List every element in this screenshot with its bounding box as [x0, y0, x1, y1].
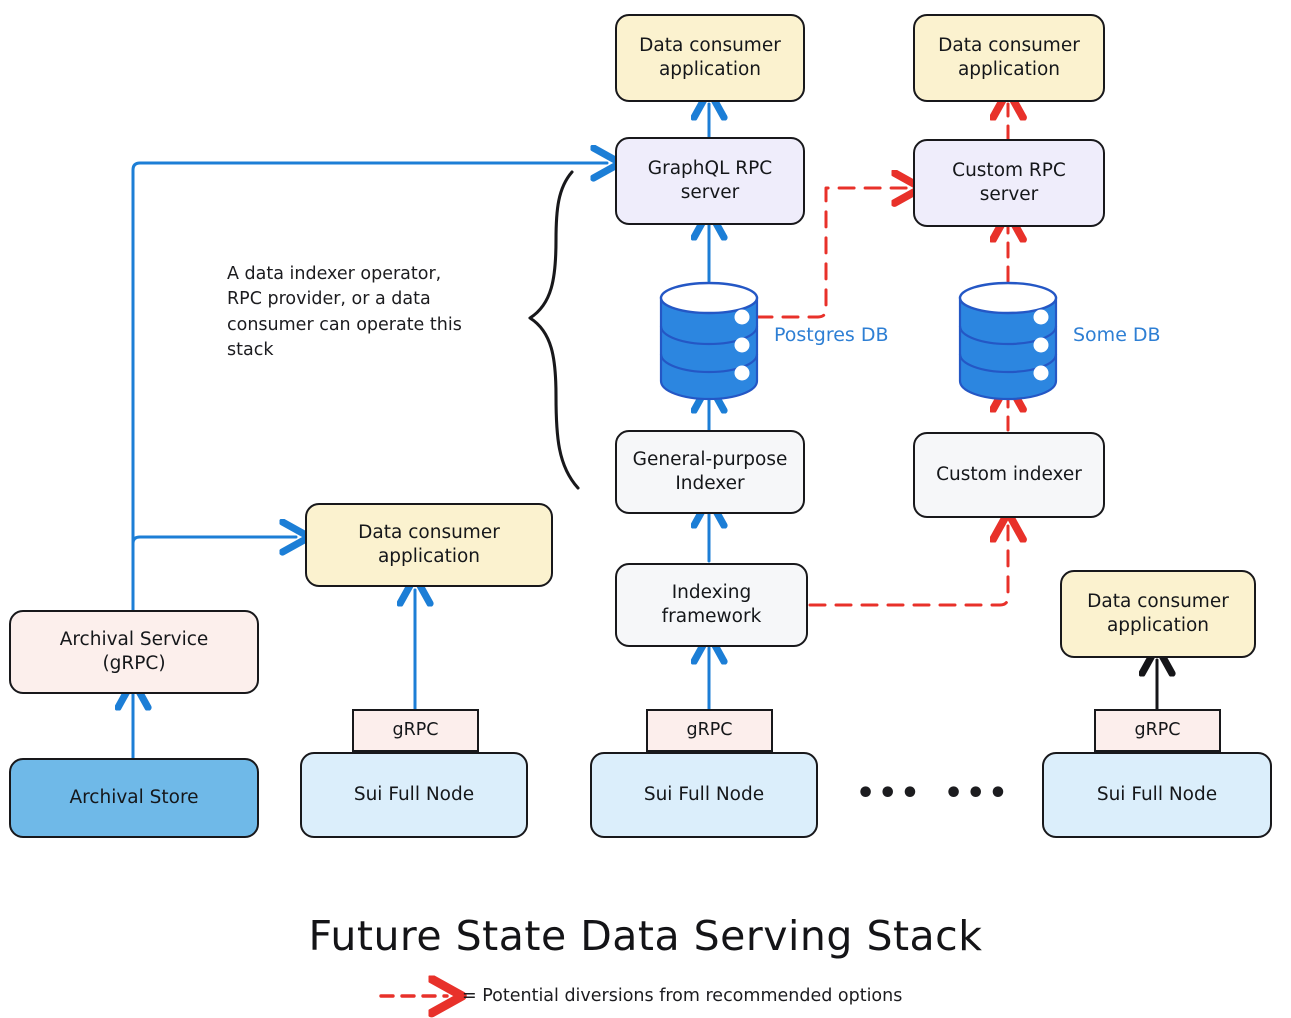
node-data-consumer-custom[interactable]: Data consumer application: [913, 14, 1105, 102]
node-archival-store[interactable]: Archival Store: [9, 758, 259, 838]
stack-annotation-text: A data indexer operator, RPC provider, o…: [227, 262, 527, 364]
diagram-canvas: Data consumer application Data consumer …: [0, 0, 1291, 1018]
ellipsis-right: •••: [944, 779, 1011, 809]
arrow-archivalservice-to-consumer: [133, 537, 296, 616]
node-data-consumer-fullnode[interactable]: Data consumer application: [1060, 570, 1256, 658]
node-sui-full-node-left[interactable]: Sui Full Node: [300, 752, 528, 838]
node-data-consumer-graphql[interactable]: Data consumer application: [615, 14, 805, 102]
arrow-framework-to-customindexer: [810, 526, 1008, 605]
node-grpc-mid[interactable]: gRPC: [646, 709, 773, 752]
node-custom-rpc-server[interactable]: Custom RPC server: [913, 139, 1105, 227]
node-graphql-rpc-server[interactable]: GraphQL RPC server: [615, 137, 805, 225]
postgres-db-label: Postgres DB: [774, 324, 889, 346]
curly-brace-icon: [530, 172, 578, 488]
node-grpc-right[interactable]: gRPC: [1094, 709, 1221, 752]
some-db-label: Some DB: [1073, 324, 1161, 346]
legend-label: = Potential diversions from recommended …: [462, 986, 902, 1006]
some-db-icon: [960, 283, 1056, 399]
node-grpc-left[interactable]: gRPC: [352, 709, 479, 752]
node-general-purpose-indexer[interactable]: General-purpose Indexer: [615, 430, 805, 514]
node-archival-service[interactable]: Archival Service (gRPC): [9, 610, 259, 694]
diagram-title: Future State Data Serving Stack: [0, 912, 1291, 960]
node-data-consumer-archival[interactable]: Data consumer application: [305, 503, 553, 587]
ellipsis-left: •••: [856, 779, 923, 809]
node-sui-full-node-right[interactable]: Sui Full Node: [1042, 752, 1272, 838]
node-sui-full-node-mid[interactable]: Sui Full Node: [590, 752, 818, 838]
node-indexing-framework[interactable]: Indexing framework: [615, 563, 808, 647]
postgres-db-icon: [661, 283, 757, 399]
node-custom-indexer[interactable]: Custom indexer: [913, 432, 1105, 518]
